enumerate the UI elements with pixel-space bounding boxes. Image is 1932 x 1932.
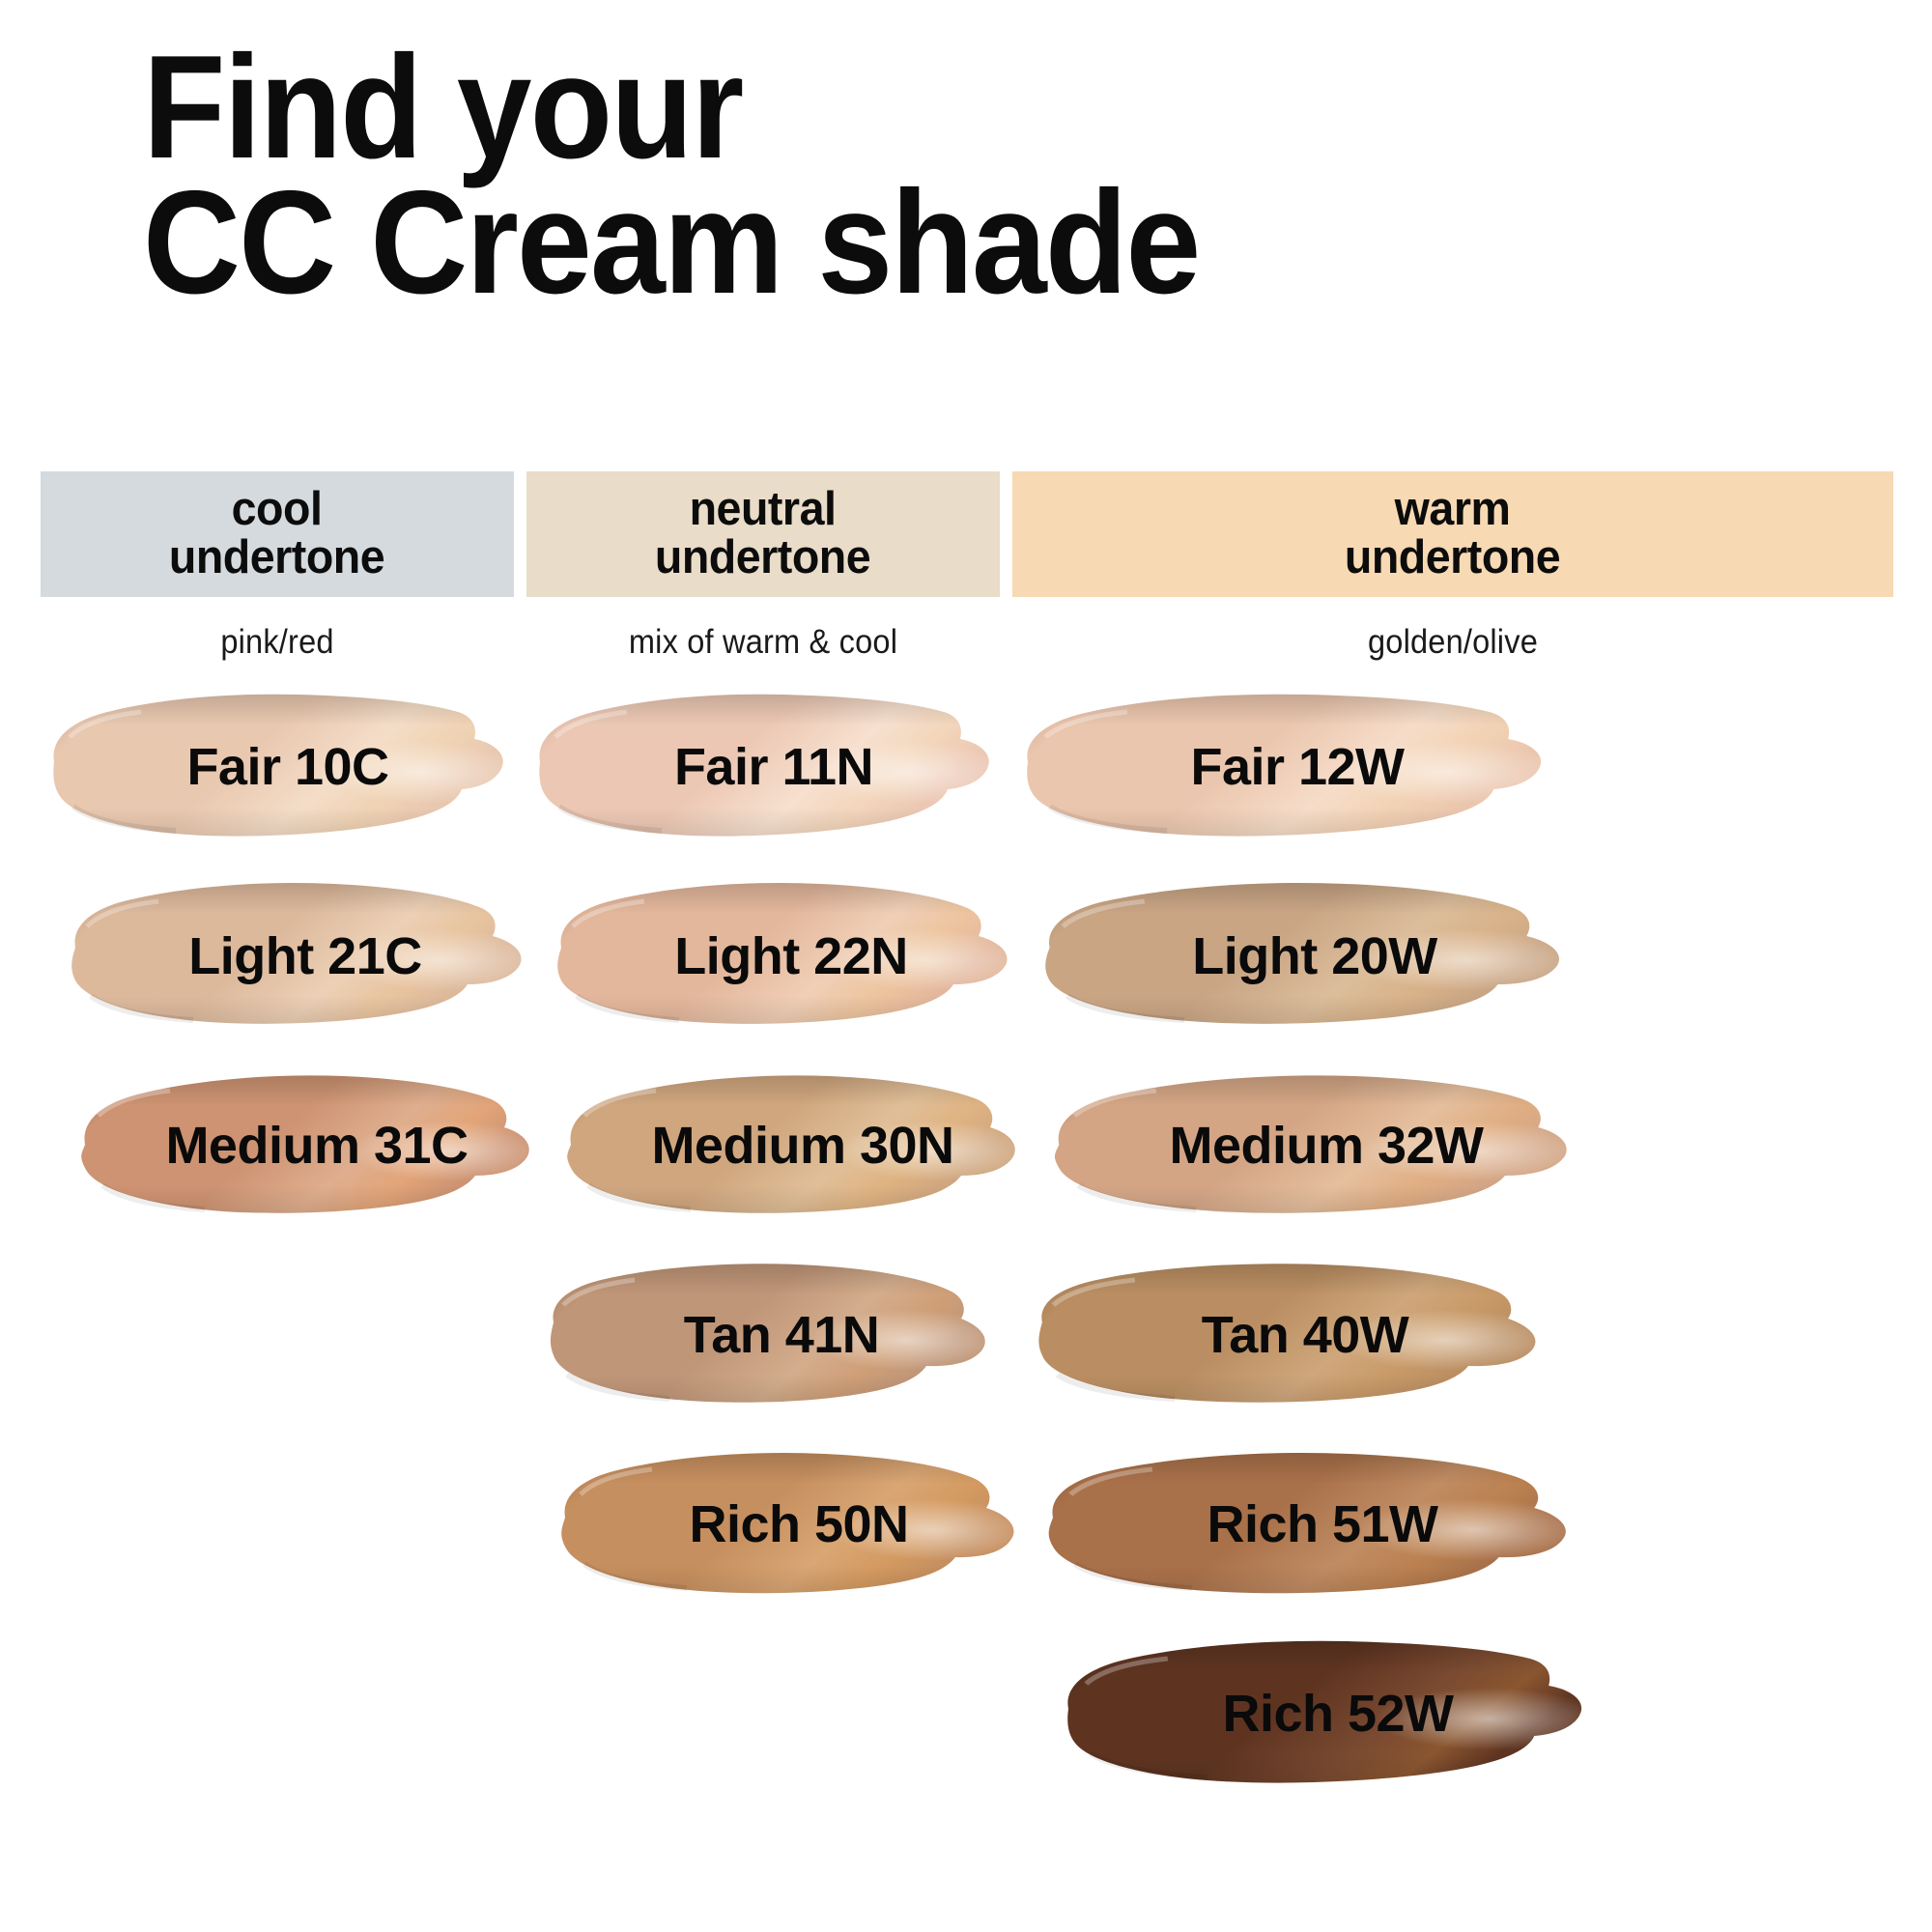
column-subtitle-warm: golden/olive bbox=[1043, 623, 1862, 662]
title-line-1: Find your bbox=[143, 41, 1707, 176]
column-header-neutral: neutralundertone bbox=[526, 471, 1000, 597]
shade-swatch[interactable]: Tan 40W bbox=[1020, 1237, 1561, 1433]
column-header-line2: undertone bbox=[169, 534, 384, 582]
swatch-list-cool: Fair 10CLight 21CMedium 31C bbox=[41, 669, 514, 1243]
shade-swatch[interactable]: Rich 51W bbox=[1037, 1427, 1578, 1622]
swatch-shape bbox=[555, 1048, 1029, 1243]
swatch-shape bbox=[534, 1237, 1008, 1433]
column-header-line2: undertone bbox=[655, 534, 870, 582]
column-header-line1: neutral bbox=[655, 486, 870, 534]
swatch-list-neutral: Fair 11NLight 22NMedium 30NTan 41NRich 5… bbox=[526, 669, 1000, 1622]
swatch-shape bbox=[1020, 1237, 1561, 1433]
shade-swatch[interactable]: Light 21C bbox=[58, 859, 531, 1054]
swatch-shape bbox=[1030, 859, 1571, 1054]
shade-swatch[interactable]: Medium 31C bbox=[70, 1048, 543, 1243]
column-subtitle-neutral: mix of warm & cool bbox=[543, 623, 983, 662]
swatch-shape bbox=[1012, 669, 1553, 865]
column-header-line1: cool bbox=[169, 486, 384, 534]
shade-swatch[interactable]: Fair 10C bbox=[41, 669, 514, 865]
column-subtitle-cool: pink/red bbox=[57, 623, 497, 662]
undertone-column-neutral: neutralundertonemix of warm & coolFair 1… bbox=[526, 471, 1000, 1616]
column-header-label-cool: coolundertone bbox=[169, 486, 384, 582]
shade-swatch[interactable]: Fair 12W bbox=[1012, 669, 1553, 865]
swatch-shape bbox=[41, 669, 514, 865]
swatch-shape bbox=[1041, 1048, 1582, 1243]
column-header-line2: undertone bbox=[1345, 534, 1560, 582]
swatch-shape bbox=[552, 1427, 1025, 1622]
title-line-2: CC Cream shade bbox=[143, 176, 1707, 311]
swatch-shape bbox=[1053, 1616, 1594, 1811]
shade-swatch[interactable]: Rich 50N bbox=[552, 1427, 1025, 1622]
swatch-list-warm: Fair 12WLight 20WMedium 32WTan 40WRich 5… bbox=[1012, 669, 1893, 1811]
page-title: Find your CC Cream shade bbox=[143, 41, 1843, 311]
shade-swatch[interactable]: Light 22N bbox=[544, 859, 1017, 1054]
column-header-label-neutral: neutralundertone bbox=[655, 486, 870, 582]
shade-swatch[interactable]: Medium 30N bbox=[555, 1048, 1029, 1243]
undertone-column-cool: coolundertonepink/redFair 10CLight 21CMe… bbox=[41, 471, 514, 1237]
undertone-column-warm: warmundertonegolden/oliveFair 12WLight 2… bbox=[1012, 471, 1893, 1805]
column-header-cool: coolundertone bbox=[41, 471, 514, 597]
column-header-line1: warm bbox=[1345, 486, 1560, 534]
shade-swatch[interactable]: Rich 52W bbox=[1053, 1616, 1594, 1811]
shade-swatch[interactable]: Light 20W bbox=[1030, 859, 1571, 1054]
swatch-shape bbox=[58, 859, 531, 1054]
shade-swatch[interactable]: Fair 11N bbox=[526, 669, 1000, 865]
shade-swatch[interactable]: Tan 41N bbox=[534, 1237, 1008, 1433]
shade-swatch[interactable]: Medium 32W bbox=[1041, 1048, 1582, 1243]
swatch-shape bbox=[544, 859, 1017, 1054]
shade-columns: coolundertonepink/redFair 10CLight 21CMe… bbox=[0, 471, 1932, 1920]
swatch-shape bbox=[526, 669, 1000, 865]
column-header-warm: warmundertone bbox=[1012, 471, 1893, 597]
swatch-shape bbox=[70, 1048, 543, 1243]
column-header-label-warm: warmundertone bbox=[1345, 486, 1560, 582]
swatch-shape bbox=[1037, 1427, 1578, 1622]
